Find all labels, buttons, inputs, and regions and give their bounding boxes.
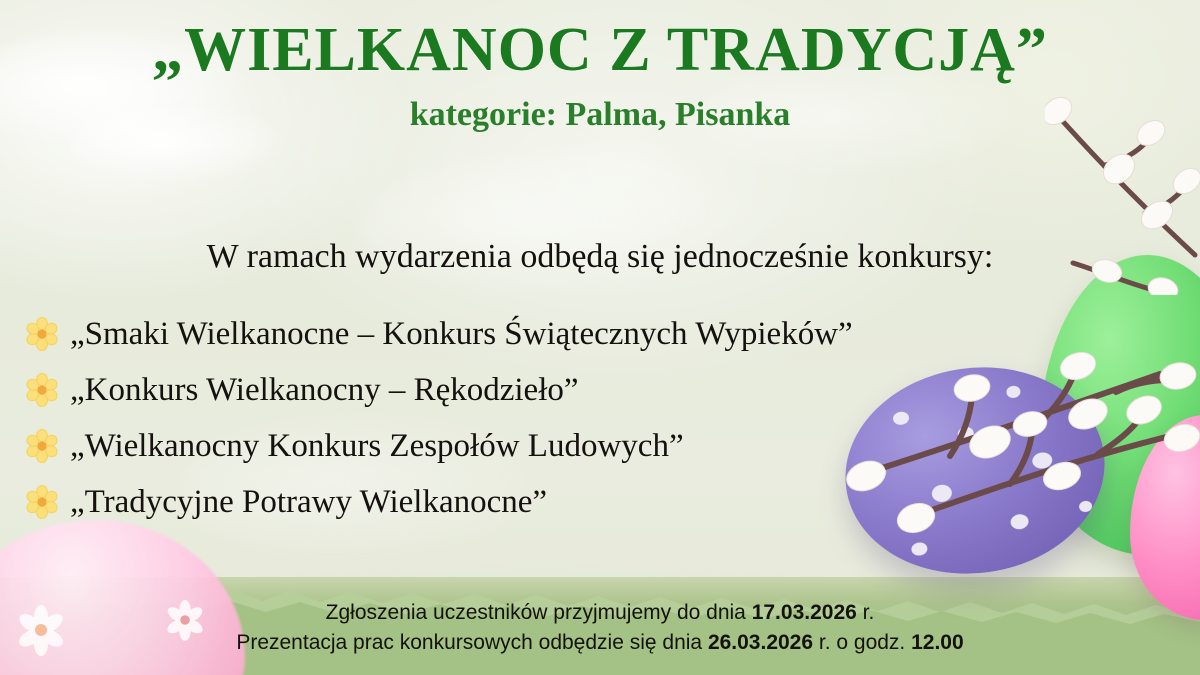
flower-icon xyxy=(18,429,66,463)
list-item: „Smaki Wielkanocne – Konkurs Świątecznyc… xyxy=(18,306,1058,362)
poster-title: „WIELKANOC Z TRADYCJĄ” xyxy=(0,18,1200,82)
list-item-label: „Wielkanocny Konkurs Zespołów Ludowych” xyxy=(66,428,684,465)
list-item-label: „Konkurs Wielkanocny – Rękodzieło” xyxy=(66,372,579,409)
footer-line-1: Zgłoszenia uczestników przyjmujemy do dn… xyxy=(0,598,1200,629)
egg-dot xyxy=(1078,500,1092,513)
flower-icon xyxy=(18,317,66,351)
footer-line-2: Prezentacja prac konkursowych odbędzie s… xyxy=(0,628,1200,659)
competition-list: „Smaki Wielkanocne – Konkurs Świątecznyc… xyxy=(18,306,1058,530)
footer-text: Zgłoszenia uczestników przyjmujemy do dn… xyxy=(0,598,1200,659)
footer-line1-date: 17.03.2026 xyxy=(752,601,857,624)
footer-line1-suffix: r. xyxy=(857,601,875,624)
footer-line2-date: 26.03.2026 xyxy=(708,631,813,654)
list-item-label: „Smaki Wielkanocne – Konkurs Świątecznyc… xyxy=(66,316,853,353)
list-item: „Tradycyjne Potrawy Wielkanocne” xyxy=(18,474,1058,530)
footer-line1-prefix: Zgłoszenia uczestników przyjmujemy do dn… xyxy=(326,601,752,624)
cloud-wisp xyxy=(360,150,780,300)
easter-poster: „WIELKANOC Z TRADYCJĄ” kategorie: Palma,… xyxy=(0,0,1200,675)
list-item: „Konkurs Wielkanocny – Rękodzieło” xyxy=(18,362,1058,418)
footer-line2-prefix: Prezentacja prac konkursowych odbędzie s… xyxy=(236,631,708,654)
flower-icon xyxy=(18,373,66,407)
flower-icon xyxy=(18,485,66,519)
list-item: „Wielkanocny Konkurs Zespołów Ludowych” xyxy=(18,418,1058,474)
poster-subtitle: kategorie: Palma, Pisanka xyxy=(0,96,1200,134)
footer-line2-middle: r. o godz. xyxy=(813,631,911,654)
egg-dot xyxy=(911,541,929,556)
intro-text: W ramach wydarzenia odbędą się jednocześ… xyxy=(0,238,1200,276)
footer-line2-time: 12.00 xyxy=(911,631,964,654)
list-item-label: „Tradycyjne Potrawy Wielkanocne” xyxy=(66,484,547,521)
